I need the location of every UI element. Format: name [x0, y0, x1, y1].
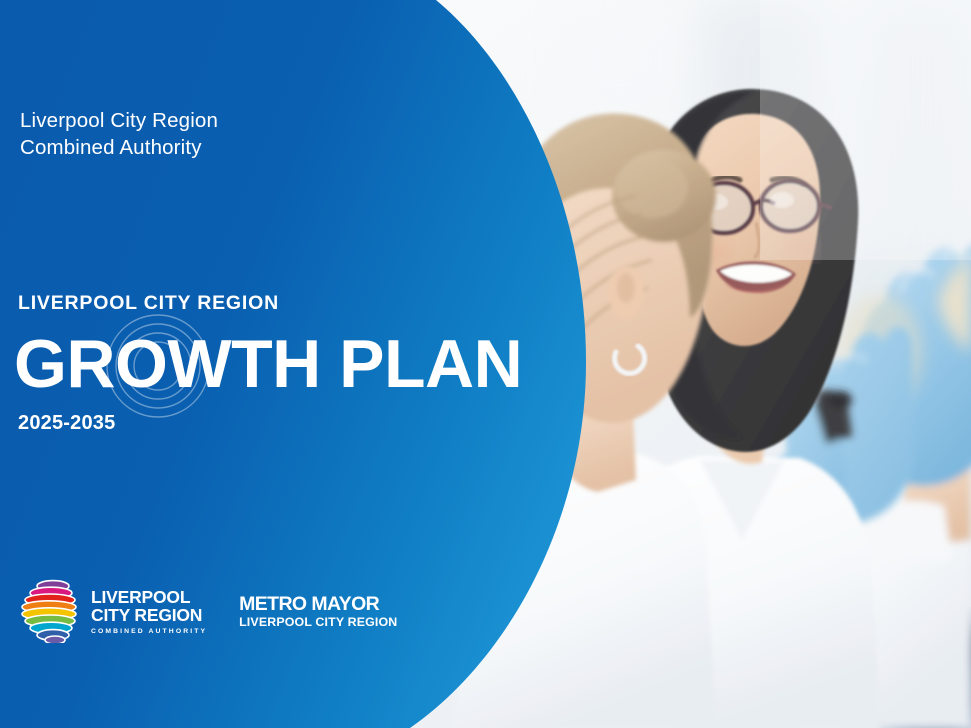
lcr-wordmark-line3: COMBINED AUTHORITY	[91, 628, 207, 635]
lcr-wordmark: LIVERPOOL CITY REGION COMBINED AUTHORITY	[91, 588, 207, 635]
lcr-wordmark-line1: LIVERPOOL	[91, 588, 207, 607]
cover-content: Liverpool City Region Combined Authority…	[0, 0, 971, 728]
metro-mayor-line2: LIVERPOOL CITY REGION	[239, 615, 397, 629]
page-title: GROWTH PLAN	[14, 325, 522, 403]
report-cover: Liverpool City Region Combined Authority…	[0, 0, 971, 728]
organisation-name: Liverpool City Region Combined Authority	[20, 107, 218, 161]
logo-bar: LIVERPOOL CITY REGION COMBINED AUTHORITY…	[20, 578, 397, 644]
lcr-combined-authority-logo: LIVERPOOL CITY REGION COMBINED AUTHORITY	[20, 578, 207, 644]
metro-mayor-logo: METRO MAYOR LIVERPOOL CITY REGION	[239, 594, 397, 629]
lcr-wordmark-line2: CITY REGION	[91, 606, 207, 625]
cover-eyebrow: LIVERPOOL CITY REGION	[18, 292, 279, 315]
date-range: 2025-2035	[18, 412, 115, 435]
rainbow-sphere-icon	[20, 579, 82, 643]
metro-mayor-line1: METRO MAYOR	[239, 594, 397, 615]
